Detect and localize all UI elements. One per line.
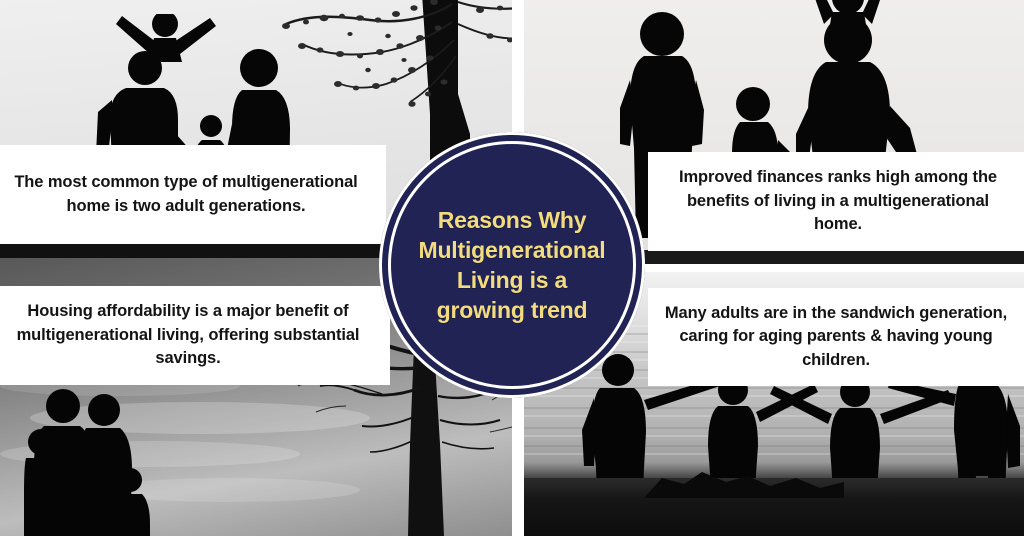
caption-text: Many adults are in the sandwich generati… bbox=[662, 302, 1010, 372]
family-group-silhouette-icon bbox=[24, 384, 174, 536]
caption-card-top-right: Improved finances ranks high among the b… bbox=[648, 152, 1024, 251]
infographic-title: Reasons Why Multigenerational Living is … bbox=[400, 205, 624, 326]
caption-text: The most common type of multigenerationa… bbox=[14, 171, 358, 218]
infographic-canvas: The most common type of multigenerationa… bbox=[0, 0, 1024, 536]
caption-card-bottom-left: Housing affordability is a major benefit… bbox=[0, 286, 390, 385]
rocks-decoration bbox=[644, 468, 844, 498]
caption-text: Housing affordability is a major benefit… bbox=[14, 300, 362, 370]
caption-text: Improved finances ranks high among the b… bbox=[666, 166, 1010, 236]
caption-card-bottom-right: Many adults are in the sandwich generati… bbox=[648, 288, 1024, 386]
caption-card-top-left: The most common type of multigenerationa… bbox=[0, 145, 386, 244]
center-title-badge: Reasons Why Multigenerational Living is … bbox=[379, 132, 645, 398]
